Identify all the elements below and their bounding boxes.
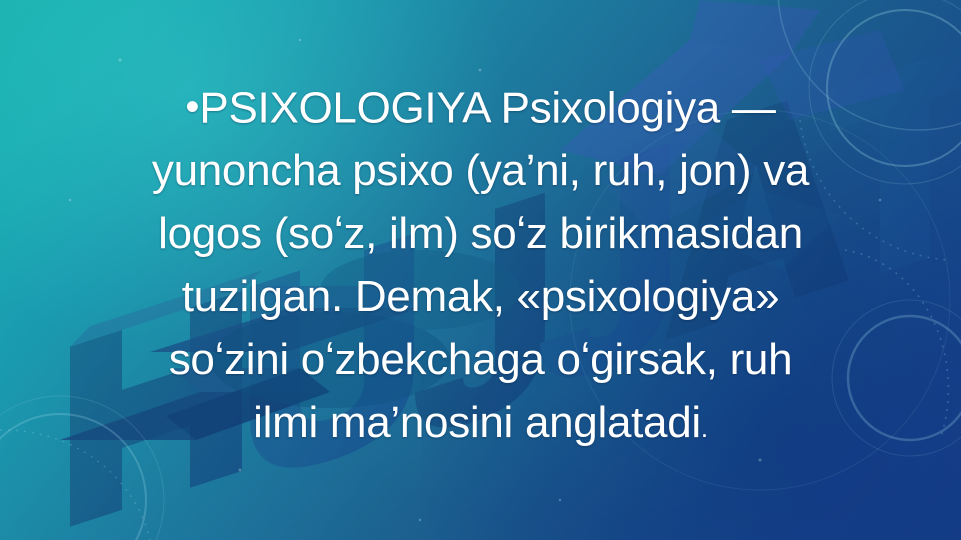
bullet-glyph: • bbox=[185, 85, 199, 129]
body-line-1: •PSIXOLOGIYA Psixologiya — bbox=[0, 76, 961, 139]
slide-canvas: •PSIXOLOGIYA Psixologiya — yunoncha psix… bbox=[0, 0, 961, 540]
body-line-5: soʻzini oʻzbekchaga oʻgirsak, ruh bbox=[0, 328, 961, 391]
body-line-1-text: PSIXOLOGIYA Psixologiya — bbox=[199, 83, 775, 132]
body-line-2: yunoncha psixo (ya’ni, ruh, jon) va bbox=[0, 139, 961, 202]
body-line-6: ilmi ma’nosini anglatadi. bbox=[0, 391, 961, 460]
body-line-6-text: ilmi ma’nosini anglatadi bbox=[253, 398, 701, 447]
slide-body-text: •PSIXOLOGIYA Psixologiya — yunoncha psix… bbox=[0, 76, 961, 460]
body-line-3: logos (soʻz, ilm) soʻz birikmasidan bbox=[0, 202, 961, 265]
final-period: . bbox=[701, 413, 708, 443]
body-line-4: tuzilgan. Demak, «psixologiya» bbox=[0, 265, 961, 328]
